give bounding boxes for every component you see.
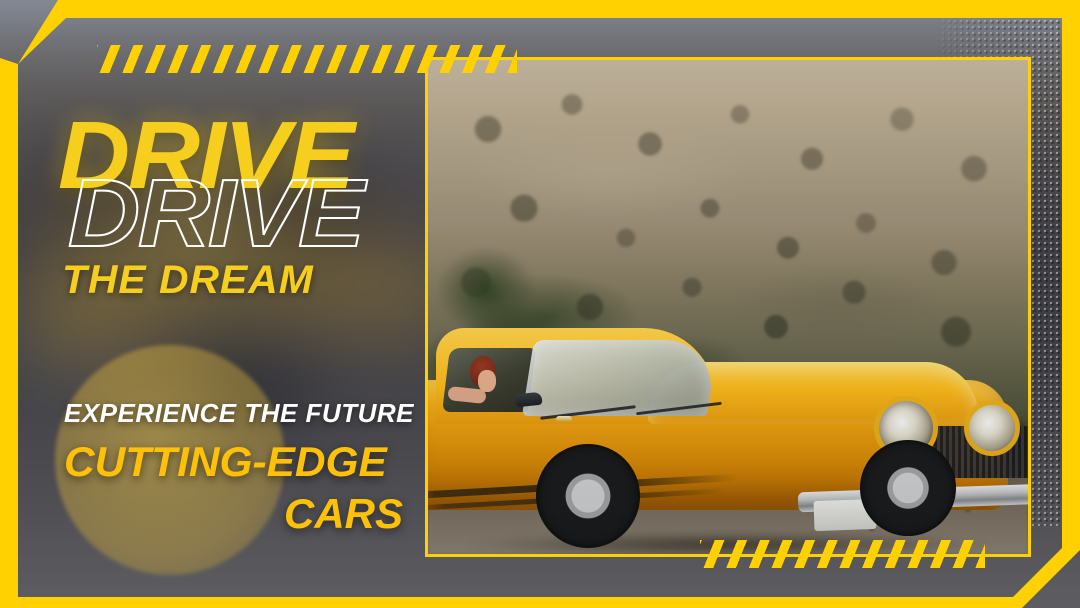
- front-wheel: [536, 444, 640, 548]
- headline-outline-echo: DRIVE: [68, 166, 363, 262]
- side-mirror: [515, 392, 542, 408]
- tagline-line-2: CARS: [284, 490, 403, 538]
- kicker-text: EXPERIENCE THE FUTURE: [64, 398, 414, 429]
- headlight: [964, 400, 1020, 456]
- hero-photo-card: [425, 57, 1031, 557]
- poster-canvas: DRIVE DRIVE THE DREAM EXPERIENCE THE FUT…: [0, 0, 1080, 608]
- tagline-line-1: CUTTING-EDGE: [64, 438, 387, 486]
- door-handle: [556, 416, 572, 422]
- classic-car: [428, 252, 1028, 552]
- headline-subtitle: THE DREAM: [62, 258, 314, 303]
- hero-photo: [428, 60, 1028, 554]
- headline-group: DRIVE DRIVE: [58, 108, 418, 268]
- text-column: DRIVE DRIVE THE DREAM EXPERIENCE THE FUT…: [0, 0, 430, 608]
- rear-wheel: [860, 440, 956, 536]
